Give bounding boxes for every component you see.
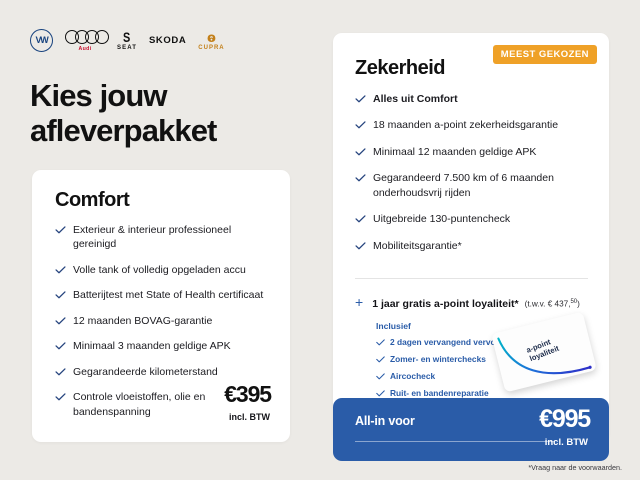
list-item: 18 maanden a-point zekerheidsgarantie [355,118,593,132]
allin-price-note: incl. BTW [545,437,588,448]
comfort-price-note: incl. BTW [229,412,270,422]
loyalty-value-suffix: ) [577,300,580,309]
list-item: Alles uit Comfort [355,92,593,106]
check-icon [55,266,66,274]
loyalty-value: (t.w.v. € 437,50) [525,299,580,309]
allin-price-footer[interactable]: All-in voor €995 incl. BTW [333,398,609,461]
list-item: 12 maanden BOVAG-garantie [55,314,273,328]
check-icon [355,121,366,129]
zekerheid-feature-list: Alles uit Comfort18 maanden a-point zeke… [355,92,593,265]
check-icon [355,95,366,103]
list-item: Uitgebreide 130-puntencheck [355,212,593,226]
check-icon [355,215,366,223]
status-badge: MEEST GEKOZEN [493,45,597,64]
check-icon [55,342,66,350]
feature-label: Controle vloeistoffen, olie en bandenspa… [73,391,205,417]
check-icon [376,389,385,396]
list-item: Volle tank of volledig opgeladen accu [55,263,273,277]
page-title-line1: Kies jouw [30,78,300,113]
seat-logo: S SEAT [117,30,137,51]
check-icon [355,242,366,250]
check-icon [55,226,66,234]
skoda-logo: SKODA [149,35,186,46]
page-title-line2: afleverpakket [30,113,300,148]
included-label: Zomer- en winterchecks [390,354,486,364]
feature-label: Gegarandeerd 7.500 km of 6 maanden onder… [373,172,554,198]
list-item: Minimaal 12 maanden geldige APK [355,145,593,159]
comfort-card-title: Comfort [55,189,129,212]
page-title: Kies jouw afleverpakket [30,78,300,148]
seat-icon: S [123,30,130,44]
list-item: Exterieur & interieur professioneel gere… [55,223,273,252]
check-icon [55,368,66,376]
feature-label: Minimaal 12 maanden geldige APK [373,146,536,158]
cupra-wordmark: CUPRA [198,45,224,51]
loyalty-value-prefix: (t.w.v. € 437, [525,300,571,309]
brand-logo-bar: VW Audi S SEAT SKODA ⱺ CUPRA [30,29,225,52]
card-divider [355,278,588,279]
list-item: Batterijtest met State of Health certifi… [55,288,273,302]
cupra-logo: ⱺ CUPRA [198,31,224,51]
feature-label: 18 maanden a-point zekerheidsgarantie [373,119,558,131]
zekerheid-package-card[interactable]: MEEST GEKOZEN Zekerheid Alles uit Comfor… [333,33,609,442]
check-icon [376,355,385,362]
audi-logo: Audi [65,30,105,52]
included-label: 2 dagen vervangend vervoer [390,337,504,347]
feature-label: Volle tank of volledig opgeladen accu [73,264,246,276]
feature-label: Batterijtest met State of Health certifi… [73,289,263,301]
seat-wordmark: SEAT [117,45,137,51]
feature-label: 12 maanden BOVAG-garantie [73,315,212,327]
feature-label: Gegarandeerde kilometerstand [73,366,218,378]
check-icon [55,393,66,401]
feature-label: Exterieur & interieur professioneel gere… [73,224,231,250]
feature-label: Minimaal 3 maanden geldige APK [73,340,231,352]
check-icon [55,291,66,299]
loyalty-highlight-row: + 1 jaar gratis a-point loyaliteit* (t.w… [355,295,605,310]
zekerheid-card-title: Zekerheid [355,57,445,80]
audi-wordmark: Audi [78,46,91,52]
list-item: Mobiliteitsgarantie* [355,239,593,253]
feature-label: Uitgebreide 130-puntencheck [373,213,510,225]
feature-label: Mobiliteitsgarantie* [373,240,462,252]
vw-icon: VW [30,29,53,52]
check-icon [355,148,366,156]
skoda-wordmark: SKODA [149,35,186,46]
allin-label: All-in voor [355,414,415,428]
feature-label: Alles uit Comfort [373,93,458,105]
list-item: Gegarandeerd 7.500 km of 6 maanden onder… [355,171,593,200]
included-label: Ruit- en bandenreparatie [390,388,489,398]
audi-rings-icon [65,30,105,44]
check-icon [376,338,385,345]
volkswagen-logo: VW [30,29,53,52]
list-item: Minimaal 3 maanden geldige APK [55,339,273,353]
loyalty-label: 1 jaar gratis a-point loyaliteit* [372,298,518,310]
cupra-icon: ⱺ [207,31,216,44]
footnote: *Vraag naar de voorwaarden. [528,463,622,472]
check-icon [55,317,66,325]
check-icon [355,174,366,182]
plus-icon: + [355,295,363,309]
comfort-price: €395 [224,383,271,406]
list-item: Gegarandeerde kilometerstand [55,365,273,379]
promo-canvas: VW Audi S SEAT SKODA ⱺ CUPRA Kies jouw a… [0,0,640,480]
comfort-package-card[interactable]: Comfort Exterieur & interieur profession… [32,170,290,442]
check-icon [376,372,385,379]
included-label: Aircocheck [390,371,435,381]
allin-price: €995 [539,407,590,432]
allin-rule [355,441,555,442]
